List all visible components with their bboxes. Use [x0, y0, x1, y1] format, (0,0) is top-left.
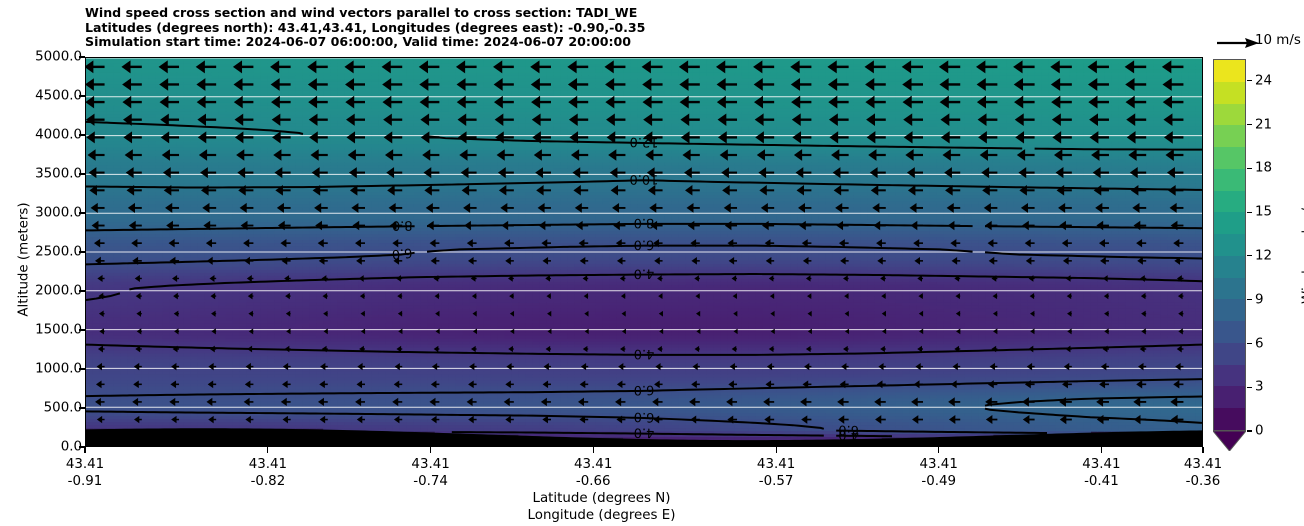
y-tick-label: 3000.0: [35, 206, 82, 221]
y-tick-label: 1000.0: [35, 362, 82, 377]
x-tick-mark: [938, 447, 939, 453]
colorbar-extend-min-arrow-icon: [1213, 431, 1246, 451]
colorbar-band: [1214, 299, 1245, 321]
colorbar-band: [1214, 82, 1245, 104]
colorbar-tick-mark: [1247, 80, 1252, 81]
x-tick-label: 43.41-0.57: [757, 456, 795, 490]
colorbar-band: [1214, 234, 1245, 256]
colorbar-band: [1214, 212, 1245, 234]
y-tick-label: 5000.0: [35, 50, 82, 65]
title-line-2: Latitudes (degrees north): 43.41,43.41, …: [85, 21, 805, 36]
colorbar-tick-label: 18: [1255, 161, 1272, 176]
x-axis-label-longitude: Longitude (degrees E): [0, 507, 1203, 524]
colorbar-tick-mark: [1247, 124, 1252, 125]
colorbar-title: Windspeed m/s: [1301, 163, 1304, 343]
x-tick-label: 43.41-0.74: [411, 456, 449, 490]
colorbar-band: [1214, 104, 1245, 126]
x-tick-mark: [430, 447, 431, 453]
y-tick-label: 2000.0: [35, 284, 82, 299]
x-tick-label: 43.41-0.66: [574, 456, 612, 490]
colorbar-band: [1214, 60, 1245, 82]
colorbar-tick-label: 21: [1255, 117, 1272, 132]
colorbar[interactable]: [1213, 59, 1246, 431]
colorbar-band: [1214, 386, 1245, 408]
x-tick-mark: [84, 447, 85, 453]
title-line-1: Wind speed cross section and wind vector…: [85, 6, 805, 21]
contour-and-vector-overlay: 4.04.04.04.06.06.06.06.06.08.08.010.012.…: [86, 58, 1202, 446]
colorbar-band: [1214, 191, 1245, 213]
colorbar-band: [1214, 147, 1245, 169]
colorbar-tick-label: 12: [1255, 248, 1272, 263]
x-tick-mark: [1101, 447, 1102, 453]
x-tick-label: 43.41-0.91: [66, 456, 104, 490]
colorbar-band: [1214, 321, 1245, 343]
x-tick-label: 43.41-0.49: [920, 456, 958, 490]
chart-page: Wind speed cross section and wind vector…: [0, 0, 1304, 526]
y-tick-label: 2500.0: [35, 245, 82, 260]
colorbar-band: [1214, 125, 1245, 147]
colorbar-band: [1214, 343, 1245, 365]
chart-title: Wind speed cross section and wind vector…: [85, 6, 805, 50]
y-tick-label: 3500.0: [35, 167, 82, 182]
x-tick-mark: [1202, 447, 1203, 453]
colorbar-tick-mark: [1247, 387, 1252, 388]
colorbar-tick-label: 0: [1255, 424, 1264, 439]
x-axis-label-latitude: Latitude (degrees N): [0, 490, 1203, 507]
colorbar-band: [1214, 278, 1245, 300]
x-tick-mark: [776, 447, 777, 453]
y-tick-label: 500.0: [44, 401, 82, 416]
colorbar-band: [1214, 408, 1245, 430]
colorbar-band: [1214, 169, 1245, 191]
colorbar-tick-mark: [1247, 212, 1252, 213]
colorbar-tick-label: 15: [1255, 205, 1272, 220]
x-tick-mark: [267, 447, 268, 453]
colorbar-tick-mark: [1247, 255, 1252, 256]
colorbar-tick-mark: [1247, 343, 1252, 344]
x-tick-mark: [593, 447, 594, 453]
colorbar-tick-mark: [1247, 430, 1252, 431]
x-tick-label: 43.41-0.36: [1184, 456, 1222, 490]
colorbar-tick-label: 6: [1255, 336, 1264, 351]
plot-inner: 4.04.04.04.06.06.06.06.06.08.08.010.012.…: [86, 58, 1202, 446]
colorbar-tick-label: 9: [1255, 292, 1264, 307]
quiver-key-label: 10 m/s: [1255, 33, 1301, 48]
colorbar-band: [1214, 365, 1245, 387]
y-tick-label: 0.0: [61, 440, 82, 455]
colorbar-tick-label: 24: [1255, 73, 1272, 88]
y-axis-label: Altitude (meters): [17, 160, 32, 360]
cross-section-plot: 4.04.04.04.06.06.06.06.06.08.08.010.012.…: [85, 57, 1203, 447]
colorbar-bands: [1214, 60, 1245, 430]
y-tick-label: 1500.0: [35, 323, 82, 338]
colorbar-tick-mark: [1247, 168, 1252, 169]
colorbar-tick-label: 3: [1255, 380, 1264, 395]
x-tick-label: 43.41-0.41: [1082, 456, 1120, 490]
colorbar-tick-mark: [1247, 299, 1252, 300]
x-tick-label: 43.41-0.82: [249, 456, 287, 490]
colorbar-band: [1214, 256, 1245, 278]
title-line-3: Simulation start time: 2024-06-07 06:00:…: [85, 35, 805, 50]
y-tick-label: 4500.0: [35, 89, 82, 104]
y-tick-label: 4000.0: [35, 128, 82, 143]
